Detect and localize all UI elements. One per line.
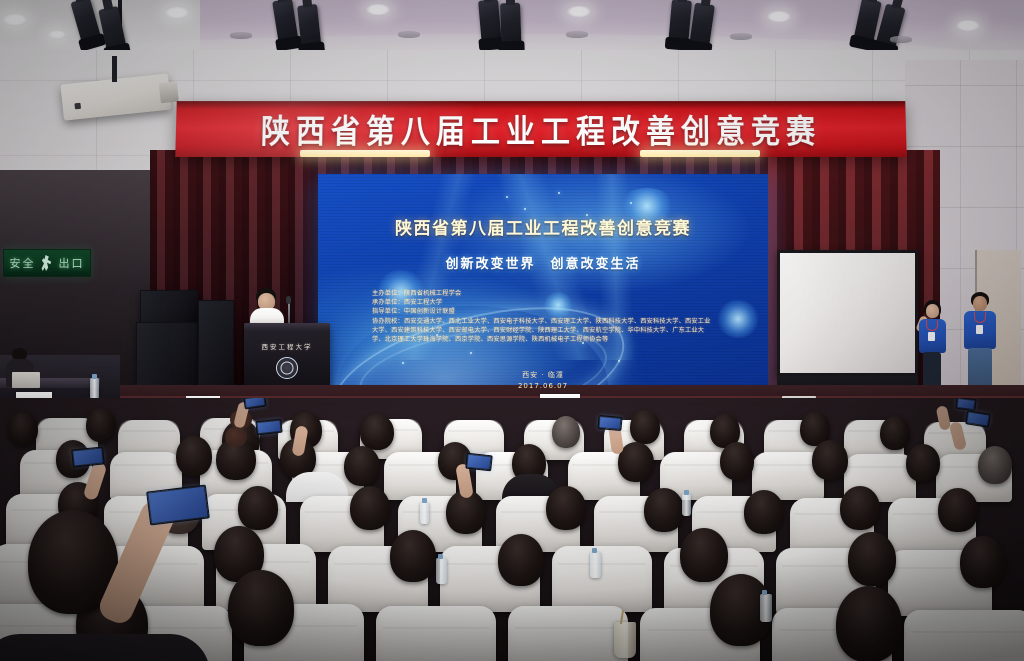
smartphone [146,484,210,525]
water-bottle [760,594,772,622]
audience-head [238,486,278,530]
audience-head [960,536,1006,588]
audience-head [720,442,754,480]
water-bottle [682,494,691,516]
ceiling-downlight [955,19,981,32]
banner-light-tube [300,150,430,157]
audience-head [978,446,1012,484]
stage-spotlight [272,0,299,47]
audience-seating-area [0,398,1024,661]
ceiling-downlight [164,6,190,19]
audience-head [86,408,116,442]
water-bottle [590,552,601,578]
audience-head [880,416,910,450]
audience-head [630,410,660,444]
audience-head [498,534,544,586]
pa-speaker-cabinet [140,290,198,326]
screen-title: 陕西省第八届工业工程改善创意竞赛 [318,214,768,239]
drink-cup [614,622,636,658]
volunteer-head [973,296,987,311]
volunteer-female [916,300,950,396]
audience-head [680,528,728,582]
smartphone [465,453,493,472]
ceiling-fixture [398,31,420,38]
ceiling-downlight [766,10,792,23]
smartphone [71,446,105,467]
coorganizer-line: 协办院校：西安交通大学、西北工业大学、西安电子科技大学、西安理工大学、陕西科技大… [372,317,714,345]
projector-indicator [74,103,81,110]
ceiling-downlight [48,30,66,39]
ceiling-downlight [365,3,391,16]
smartphone [955,398,976,411]
chair [552,546,652,612]
audience-head [644,488,684,532]
projection-screen-surface [780,253,915,373]
organizer-line: 承办单位：西安工程大学 [372,298,714,307]
banner-title-text: 陕西省第八届工业工程改善创意竞赛 [260,106,821,153]
running-person-icon [40,255,55,271]
audience-head [8,412,38,446]
organizer-line: 指导单位：中国创新设计联盟 [372,307,714,316]
audience-head [552,416,580,448]
audience-head [546,486,586,530]
led-stage-screen: 陕西省第八届工业工程改善创意竞赛 创新改变世界 创意改变生活 主办单位：陕西省机… [318,174,768,406]
audience-head [360,414,394,450]
microphone [286,296,291,304]
event-banner: 陕西省第八届工业工程改善创意竞赛 [175,101,907,157]
smartphone [243,398,266,409]
organizer-line: 主办单位：陕西省机械工程学会 [372,289,714,298]
smartphone [255,419,282,436]
volunteer-head [926,304,939,318]
ceiling-downlight [2,13,28,26]
foreground-attendee-torso [0,634,210,661]
secondary-projection-screen [777,250,918,376]
screen-footer-date: 2017.06.07 [318,382,768,390]
id-badge [976,325,983,334]
projector-mount-pole [112,56,117,82]
conference-hall-photo: 安全 出口 陕西省 [0,0,1024,661]
screen-content: 陕西省第八届工业工程改善创意竞赛 创新改变世界 创意改变生活 主办单位：陕西省机… [318,174,768,406]
stage-spotlight [297,4,322,52]
audience-head [344,446,380,486]
chair [508,606,628,661]
ceiling-fixture [566,31,588,38]
water-bottle [436,558,447,584]
audience-head [840,486,880,530]
banner-light-tube [640,150,760,157]
water-bottle [420,502,429,524]
stage-spotlight [689,3,715,51]
projector-lens [159,82,179,104]
audience-head [744,490,784,534]
technician-laptop [12,372,40,388]
screen-footer: 西安 · 临潼 2017.06.07 [318,370,768,390]
coorganizer-label: 协办院校： [372,318,404,325]
audience-head [812,440,848,480]
audience-head [228,570,294,646]
exit-sign-left-text: 安全 [10,255,36,271]
id-badge [928,332,935,341]
audience-head [938,488,978,532]
screen-subtitle: 创新改变世界 创意改变生活 [318,253,768,272]
emergency-exit-sign: 安全 出口 [3,249,91,277]
smartphone [597,415,622,431]
audience-head [216,438,256,480]
volunteer-male [962,292,1000,398]
ceiling-fixture [730,33,752,40]
stage-spotlight [478,0,502,47]
screen-footer-location: 西安 · 临潼 [318,370,768,380]
pa-speaker-cabinet [198,300,234,396]
ceiling-fixture [890,36,912,43]
chair [376,606,496,661]
university-emblem-icon [276,357,298,379]
audience-head [848,532,896,586]
coorganizer-universities: 西安交通大学、西北工业大学、西安电子科技大学、西安理工大学、陕西科技大学、西安科… [372,318,711,343]
audience-head [176,436,212,476]
audience-head [350,486,390,530]
audience-head [836,586,902,661]
chair [904,610,1024,661]
audience-head [390,530,436,582]
stage-spotlight [500,3,522,50]
ceiling-downlight [566,5,592,18]
audience-head [906,444,940,482]
ceiling-fixture [230,32,252,39]
water-bottle [90,378,99,400]
exit-sign-right-text: 出口 [59,255,85,271]
screen-organizer-block: 主办单位：陕西省机械工程学会 承办单位：西安工程大学 指导单位：中国创新设计联盟… [318,289,768,344]
